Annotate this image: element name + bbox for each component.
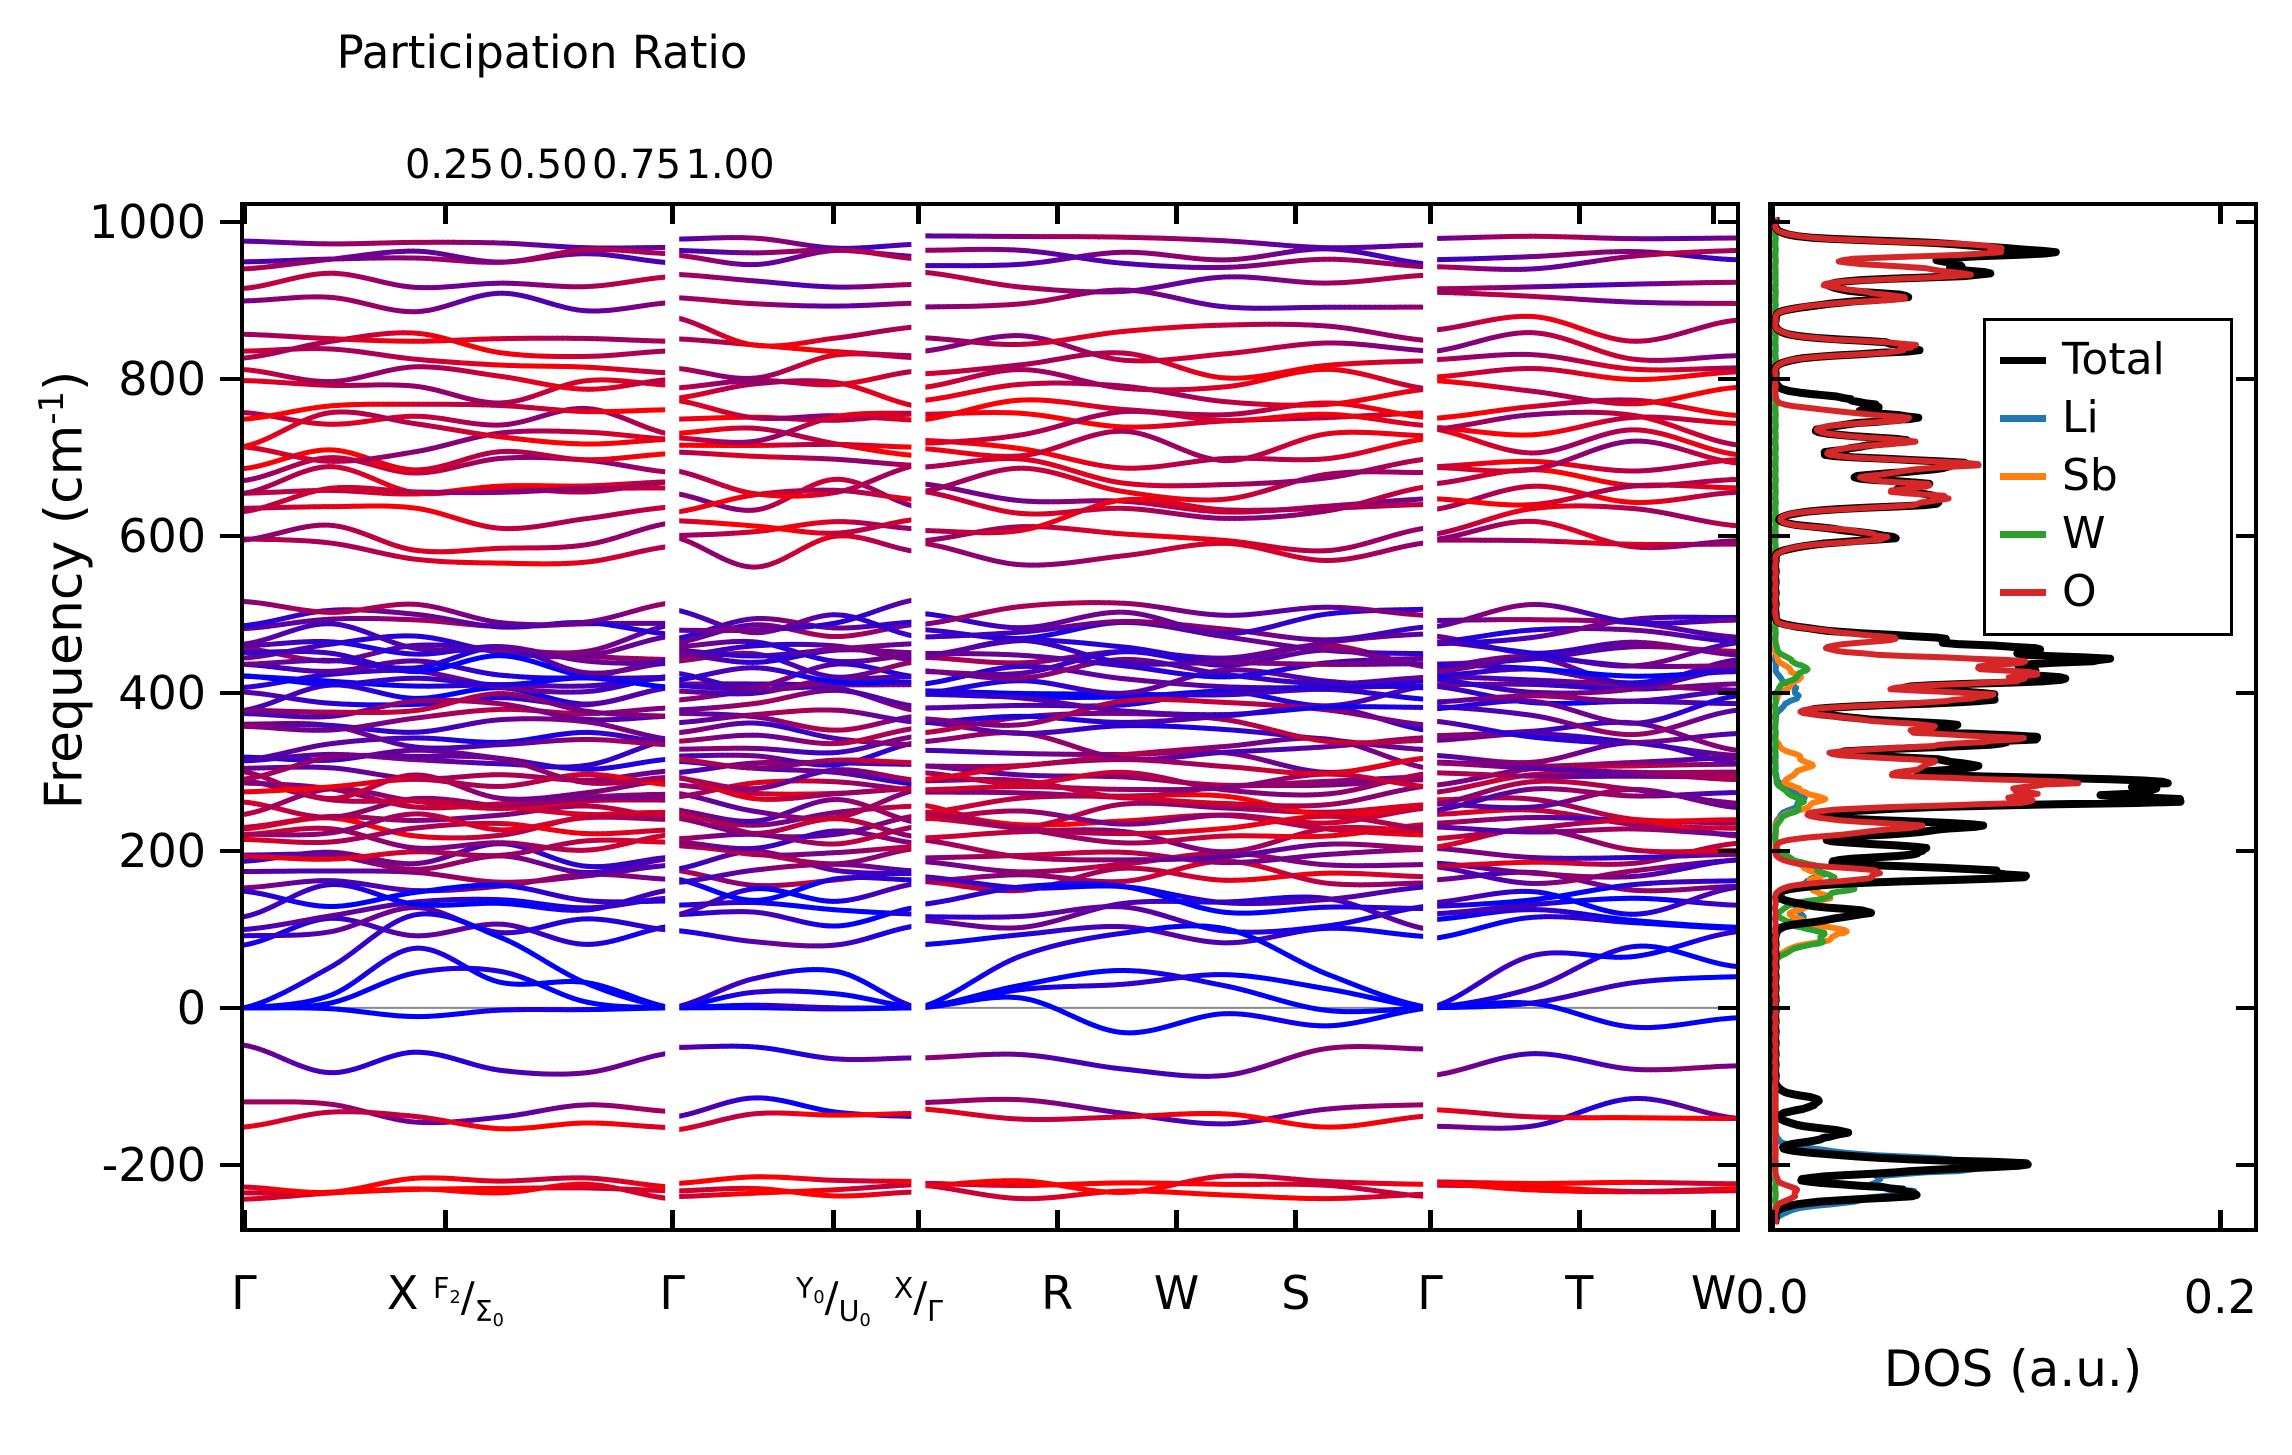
legend-label: W [2062, 512, 2106, 556]
colorbar-tick-label: 0.25 [405, 142, 494, 188]
y-axis-tick [220, 1006, 240, 1010]
k-point-tick [1293, 1210, 1298, 1228]
legend-row: Sb [2000, 447, 2216, 505]
k-point-tick [1174, 1210, 1179, 1228]
y-axis-tick [220, 691, 240, 695]
k-point-tick [1577, 1210, 1582, 1228]
dos-axis-title: DOS (a.u.) [1768, 1340, 2258, 1398]
band-structure-plot [244, 206, 1736, 1228]
y-axis-tick [220, 1163, 240, 1167]
dos-x-tick-label: 0.2 [2184, 1270, 2257, 1324]
kpath-segment-gap [665, 206, 679, 1228]
dos-x-tick [1770, 1210, 1775, 1228]
legend-color-swatch [2000, 473, 2046, 480]
legend-row: W [2000, 505, 2216, 563]
k-point-tick [242, 1210, 247, 1228]
y-axis-tick-label: 600 [0, 509, 206, 563]
k-point-tick [1174, 206, 1179, 224]
legend-row: Total [2000, 331, 2216, 389]
k-point-label: Γ [1417, 1270, 1443, 1316]
dos-legend: TotalLiSbWO [1983, 318, 2233, 636]
y-axis-tick-inner [1718, 220, 1736, 224]
k-point-label: Y0/U0 [796, 1270, 871, 1319]
y-axis-tick [220, 220, 240, 224]
k-point-tick [831, 206, 836, 224]
k-point-label: T [1565, 1270, 1593, 1316]
legend-label: O [2062, 570, 2097, 614]
y-axis-tick-label: 800 [0, 352, 206, 406]
k-point-tick [1577, 206, 1582, 224]
dos-y-tick [1772, 534, 1790, 538]
legend-label: Li [2062, 396, 2099, 440]
dos-y-tick [1772, 691, 1790, 695]
dos-y-tick [1772, 849, 1790, 853]
y-axis-tick-inner [1718, 377, 1736, 381]
k-point-label: X/Γ [894, 1270, 943, 1316]
dos-y-tick [2236, 377, 2254, 381]
k-point-tick [1293, 206, 1298, 224]
y-axis-tick-inner [1718, 1163, 1736, 1167]
k-point-tick [443, 206, 448, 224]
dos-y-tick [2236, 1006, 2254, 1010]
colorbar-tick-labels: 0.250.500.751.00 [352, 142, 734, 190]
legend-label: Total [2062, 338, 2165, 382]
kpath-segment-gap [1423, 206, 1437, 1228]
dos-curve-w [1775, 218, 1854, 1224]
k-point-tick [916, 1210, 921, 1228]
k-point-tick [1711, 206, 1716, 224]
colorbar-tick-label: 0.50 [498, 142, 587, 188]
k-point-tick [443, 1210, 448, 1228]
dos-x-tick [1770, 206, 1775, 224]
dos-y-tick [2236, 1163, 2254, 1167]
k-point-tick [831, 1210, 836, 1228]
k-point-label: Γ [231, 1270, 257, 1316]
y-axis-tick-inner [1718, 1006, 1736, 1010]
k-point-label: W [1691, 1270, 1736, 1316]
dos-y-tick [1772, 1163, 1790, 1167]
dos-y-tick [2236, 691, 2254, 695]
dos-x-tick-label: 0.0 [1735, 1270, 1808, 1324]
colorbar-title: Participation Ratio [172, 30, 912, 75]
k-point-tick [670, 206, 675, 224]
k-point-label: S [1281, 1270, 1310, 1316]
dos-y-tick [1772, 377, 1790, 381]
k-point-label: W [1154, 1270, 1199, 1316]
k-point-tick [242, 206, 247, 224]
y-axis-tick-label: -200 [0, 1138, 206, 1192]
k-point-label: X F2/Σ0 [387, 1270, 504, 1319]
y-axis-tick-label: 200 [0, 824, 206, 878]
phonon-band-structure-panel [240, 202, 1740, 1232]
legend-color-swatch [2000, 357, 2046, 364]
k-point-tick [1428, 1210, 1433, 1228]
k-point-tick [670, 1210, 675, 1228]
legend-color-swatch [2000, 415, 2046, 422]
legend-color-swatch [2000, 589, 2046, 596]
dos-y-tick [2236, 534, 2254, 538]
figure-canvas: Participation Ratio 0.250.500.751.00 Fre… [0, 0, 2292, 1455]
y-axis-title-main: Frequency (cm [35, 425, 95, 810]
colorbar-tick-label: 0.75 [592, 142, 681, 188]
k-point-label: R [1041, 1270, 1073, 1316]
y-axis-tick [220, 849, 240, 853]
y-axis-tick-label: 1000 [0, 195, 206, 249]
y-axis-tick-inner [1718, 691, 1736, 695]
y-axis-tick-label: 400 [0, 666, 206, 720]
dos-x-tick [2218, 206, 2223, 224]
k-point-tick [1428, 206, 1433, 224]
y-axis-tick-inner [1718, 849, 1736, 853]
kpath-segment-gap [911, 206, 925, 1228]
k-point-label: Γ [659, 1270, 685, 1316]
colorbar: Participation Ratio 0.250.500.751.00 [352, 30, 734, 210]
legend-row: O [2000, 563, 2216, 621]
colorbar-tick-label: 1.00 [685, 142, 774, 188]
dos-y-tick [1772, 220, 1790, 224]
legend-row: Li [2000, 389, 2216, 447]
k-point-tick [916, 206, 921, 224]
legend-label: Sb [2062, 454, 2118, 498]
dos-x-tick [2218, 1210, 2223, 1228]
legend-color-swatch [2000, 531, 2046, 538]
y-axis-tick [220, 377, 240, 381]
y-axis-tick [220, 534, 240, 538]
dos-y-tick [2236, 849, 2254, 853]
k-point-tick [1711, 1210, 1716, 1228]
dos-y-tick [2236, 220, 2254, 224]
y-axis-tick-label: 0 [0, 981, 206, 1035]
dos-curve-sb [1775, 218, 1847, 1224]
k-point-tick [1055, 1210, 1060, 1228]
k-point-tick [1055, 206, 1060, 224]
y-axis-tick-inner [1718, 534, 1736, 538]
dos-y-tick [1772, 1006, 1790, 1010]
